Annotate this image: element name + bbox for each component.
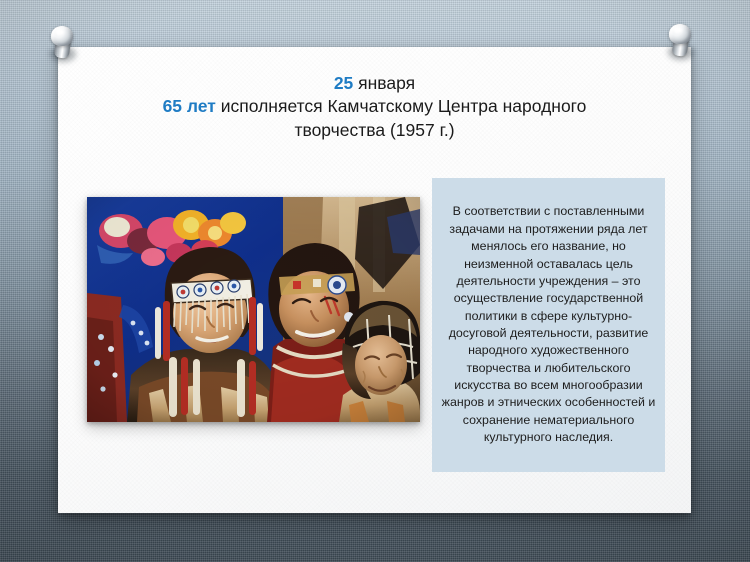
kamchatka-indigenous-women-photo bbox=[87, 197, 420, 422]
body-text-panel: В соответствии с поставленными задачами … bbox=[432, 178, 665, 472]
title-line-2: 65 лет исполняется Камчатскому Центра на… bbox=[72, 95, 677, 118]
title-line-3: творчества (1957 г.) bbox=[72, 119, 677, 142]
title-month: января bbox=[353, 73, 415, 93]
title-line-2-text: исполняется Камчатскому Центра народного bbox=[216, 96, 587, 116]
pin-head bbox=[669, 24, 691, 44]
photo-artwork bbox=[87, 197, 420, 422]
slide-canvas: 25 января 65 лет исполняется Камчатскому… bbox=[0, 0, 750, 562]
body-text: В соответствии с поставленными задачами … bbox=[441, 203, 656, 446]
pin-head bbox=[51, 26, 73, 46]
pin-glint bbox=[674, 27, 682, 33]
title-accent-years: 65 лет bbox=[163, 96, 216, 116]
title-accent-date: 25 bbox=[334, 73, 353, 93]
title-line-1: 25 января bbox=[72, 72, 677, 95]
page-title: 25 января 65 лет исполняется Камчатскому… bbox=[72, 72, 677, 142]
pin-glint bbox=[56, 29, 64, 35]
